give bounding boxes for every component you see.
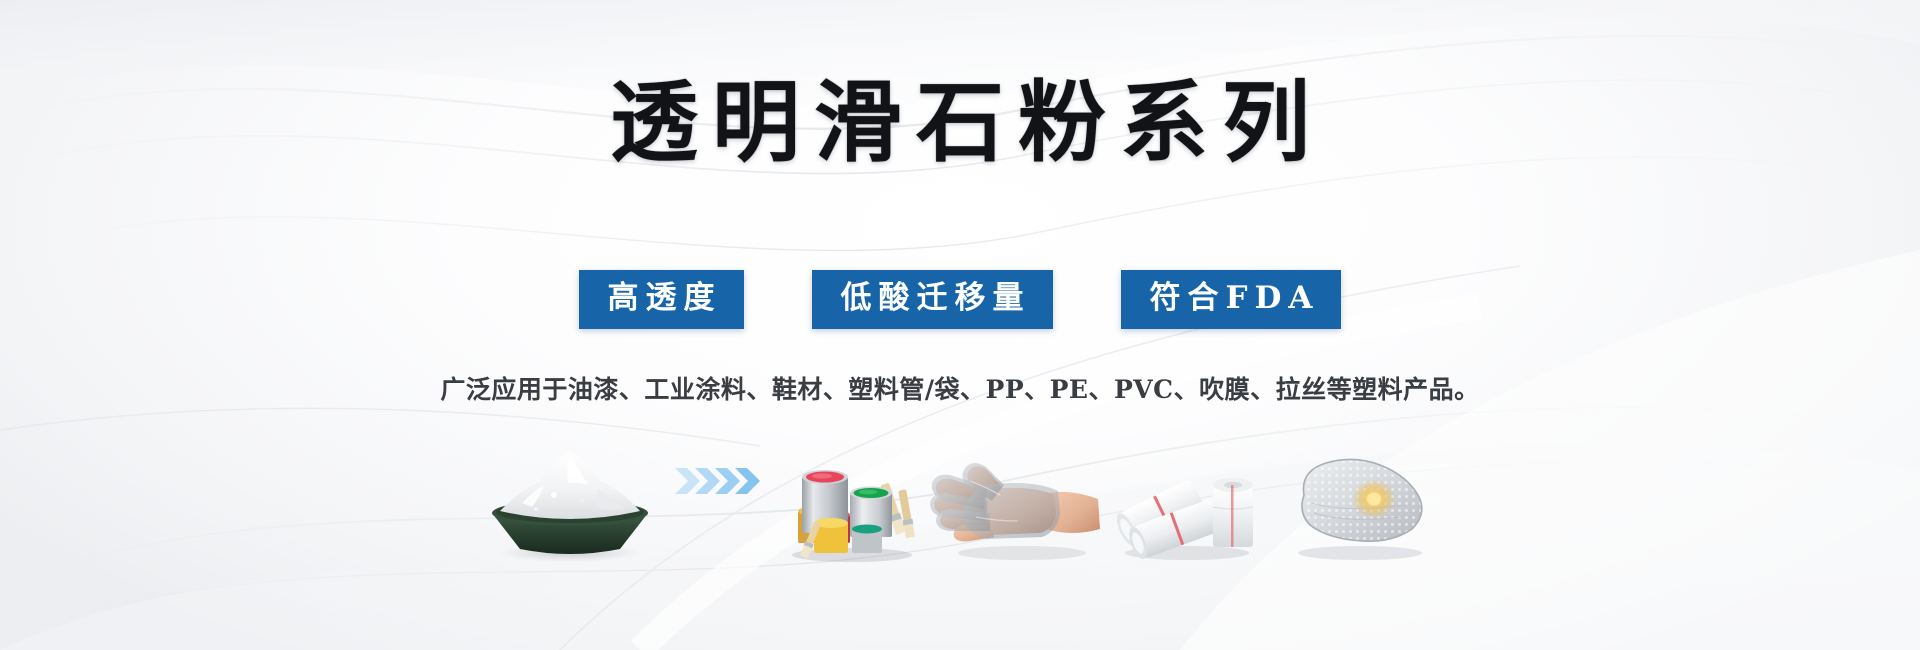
film-rolls-image	[1105, 432, 1270, 562]
talc-powder-bowl-image	[470, 432, 670, 562]
gloved-hand-image	[930, 432, 1105, 562]
feature-badge-high-transparency: 高透度	[579, 270, 744, 329]
product-banner: 透明滑石粉系列 高透度 低酸迁移量 符合FDA 广泛应用于油漆、工业涂料、鞋材、…	[0, 0, 1920, 650]
feature-badge-low-acid-migration: 低酸迁移量	[812, 270, 1053, 329]
process-arrows	[670, 432, 780, 562]
feature-badge-fda-compliant: 符合FDA	[1121, 270, 1342, 329]
paint-cans-image	[780, 432, 930, 562]
shoe-sole-image	[1270, 432, 1450, 562]
application-description: 广泛应用于油漆、工业涂料、鞋材、塑料管/袋、PP、PE、PVC、吹膜、拉丝等塑料…	[0, 370, 1920, 406]
banner-title-wrap: 透明滑石粉系列	[0, 78, 1920, 166]
feature-badge-list: 高透度 低酸迁移量 符合FDA	[0, 270, 1920, 329]
product-image-strip	[0, 432, 1920, 562]
page-title: 透明滑石粉系列	[596, 78, 1324, 166]
